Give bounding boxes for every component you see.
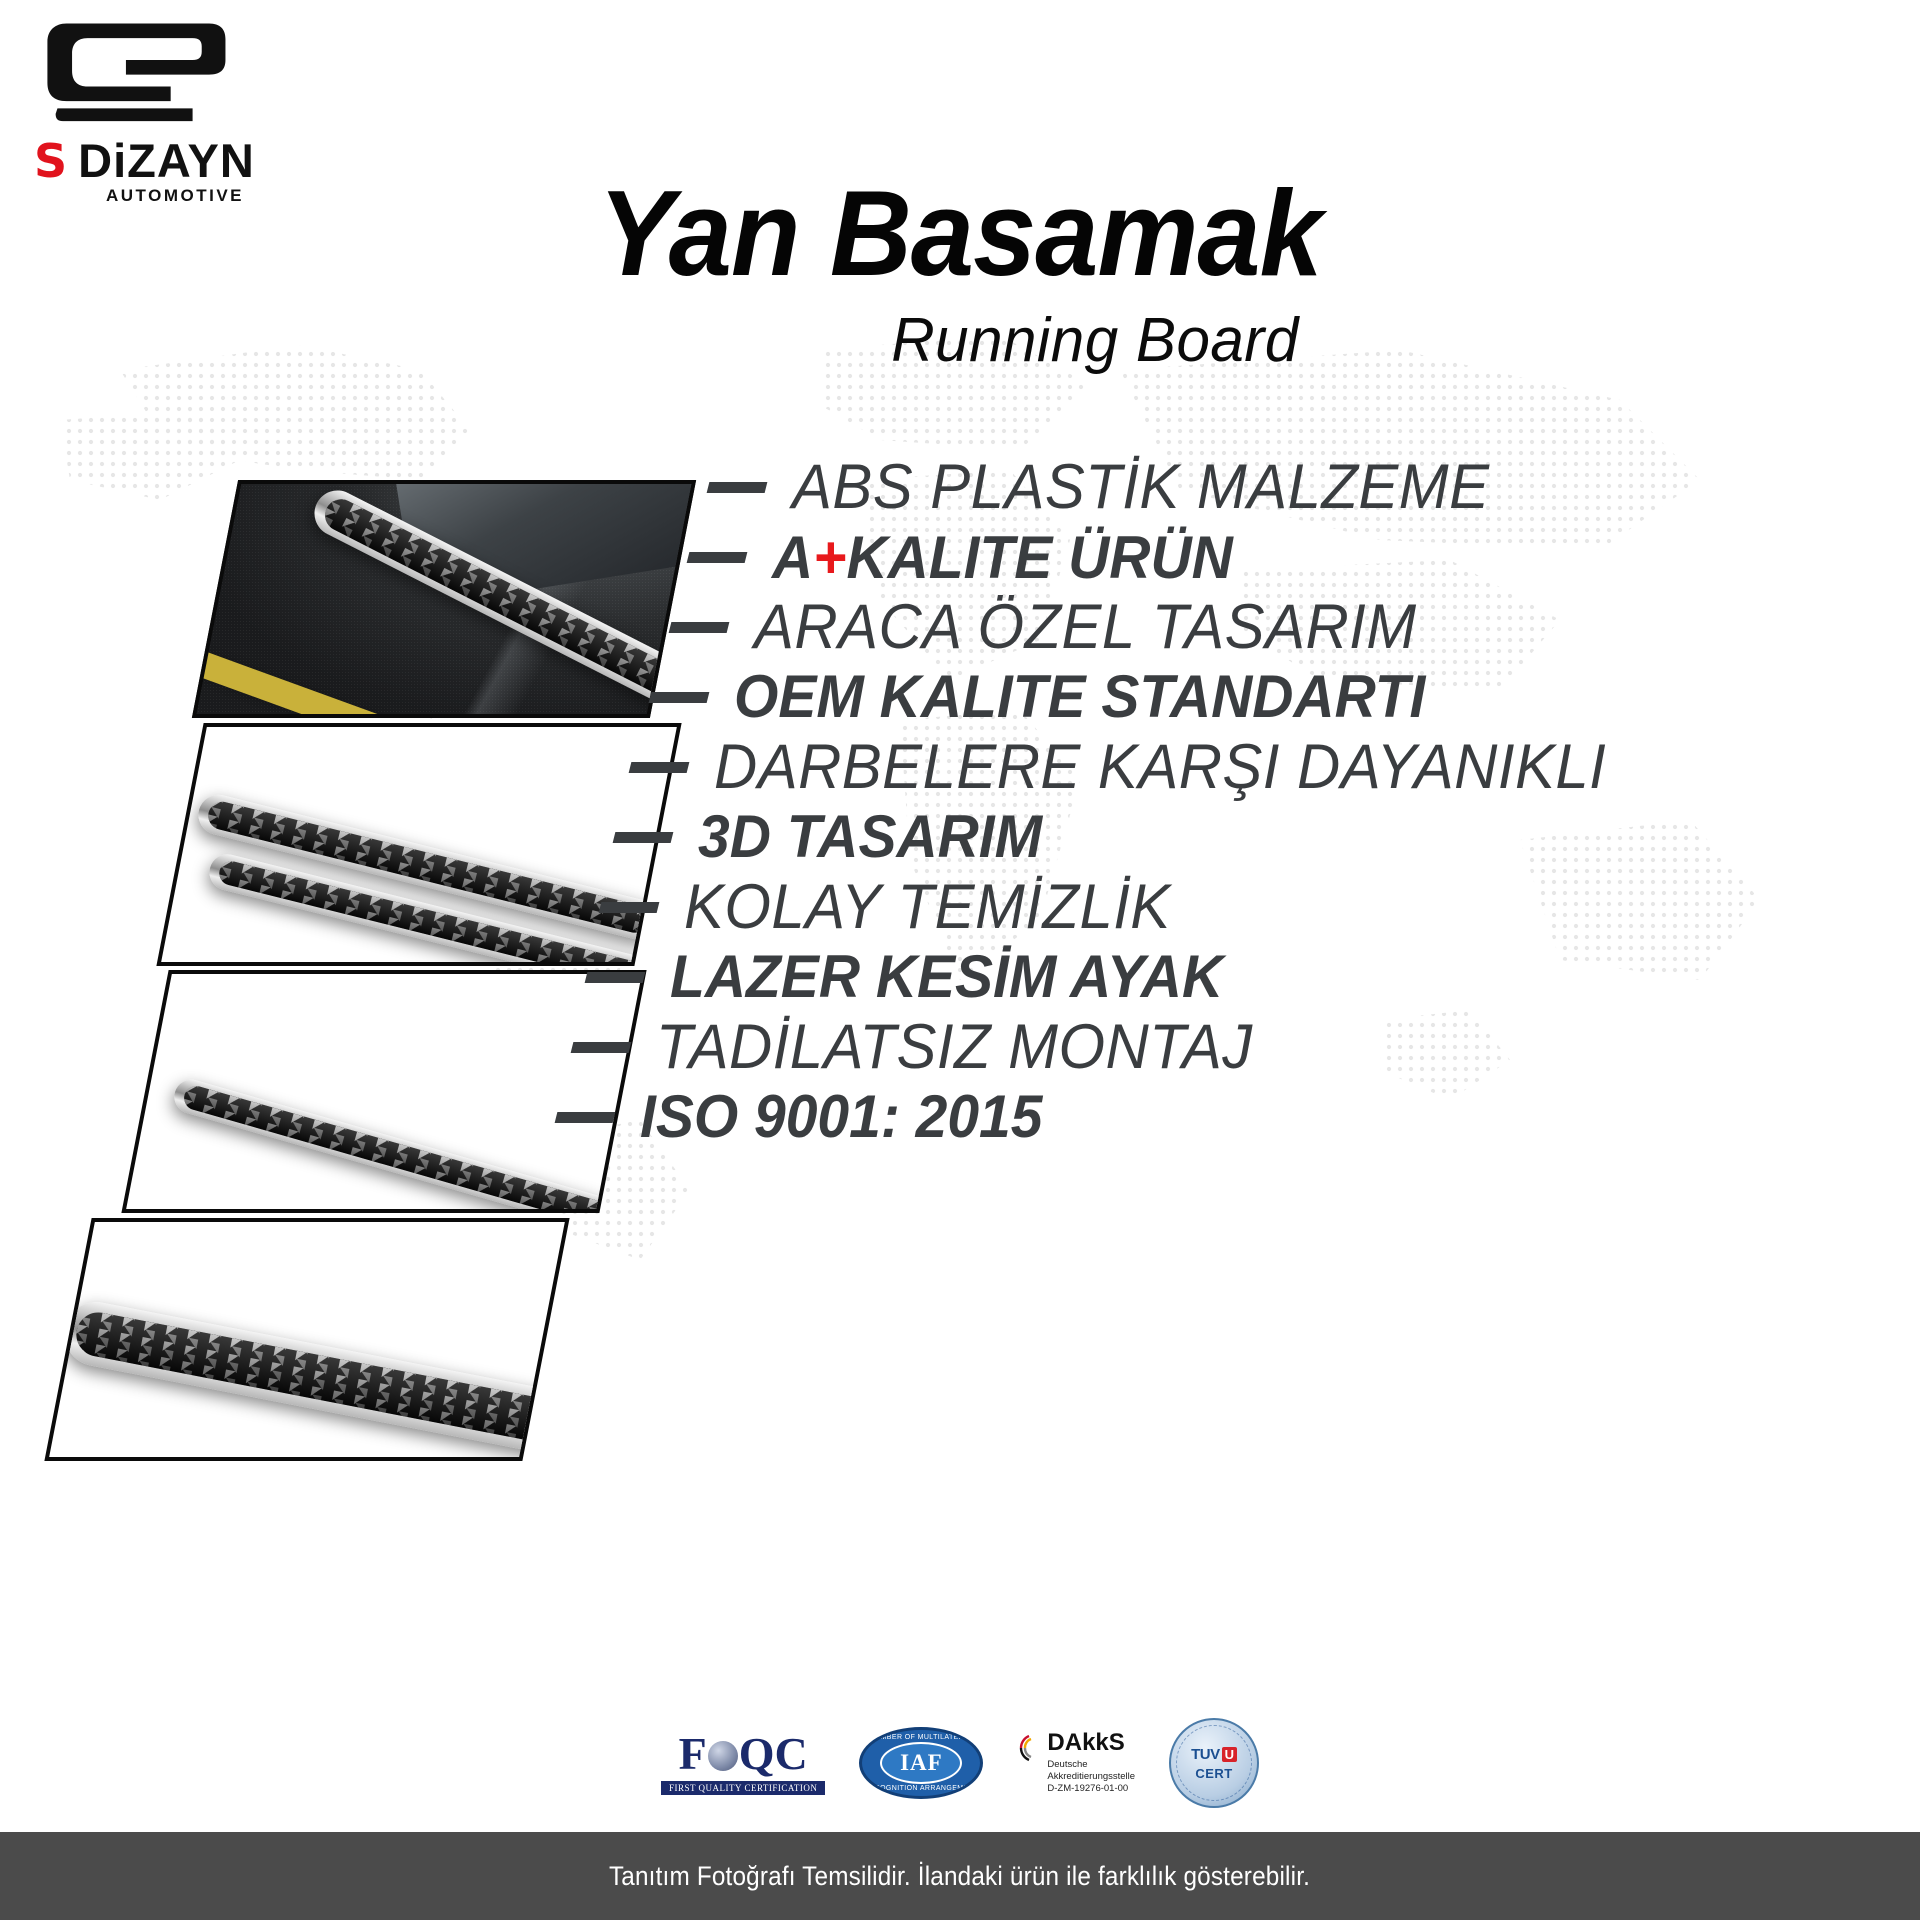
iaf-bottom-text: RECOGNITION ARRANGEMENT (862, 1785, 980, 1792)
bullet-dash-icon (687, 552, 748, 563)
bullet-dash-icon (571, 1042, 632, 1053)
disclaimer-text: Tanıtım Fotoğrafı Temsilidir. İlandaki ü… (609, 1861, 1310, 1892)
fqc-badge-icon: FQC FIRST QUALITY CERTIFICATION (661, 1731, 825, 1795)
certification-badges: FQC FIRST QUALITY CERTIFICATION MEMBER O… (0, 1718, 1920, 1808)
feature-label: A+KALITE ÜRÜN (772, 527, 1233, 589)
bullet-dash-icon (669, 622, 730, 633)
feature-list: ABS PLASTİK MALZEME A+KALITE ÜRÜN ARACA … (600, 455, 1920, 1155)
feature-label: LAZER KESİM AYAK (670, 946, 1223, 1008)
bullet-dash-icon (555, 1112, 616, 1123)
feature-item: ISO 9001: 2015 (556, 1086, 1920, 1148)
s-dizayn-logo-mark (28, 18, 233, 123)
bullet-dash-icon (613, 832, 674, 843)
fqc-letters-tail: QC (739, 1731, 808, 1777)
product-photo-close-up (44, 1218, 569, 1461)
feature-item: KOLAY TEMİZLİK (600, 875, 1920, 941)
feature-item: LAZER KESİM AYAK (586, 946, 1920, 1008)
feature-item: 3D TASARIM (614, 806, 1920, 868)
feature-label-suffix: KALITE ÜRÜN (846, 524, 1232, 591)
feature-item: TADİLATSIZ MONTAJ (572, 1015, 1920, 1081)
feature-label-prefix: A (772, 524, 813, 591)
feature-label: 3D TASARIM (698, 806, 1042, 868)
feature-label: ISO 9001: 2015 (640, 1086, 1042, 1148)
dakks-line2: Akkreditierungsstelle (1047, 1771, 1135, 1783)
bullet-dash-icon (649, 692, 710, 703)
feature-label: DARBELERE KARŞI DAYANIKLI (714, 735, 1606, 801)
iaf-top-text: MEMBER OF MULTILATERAL (862, 1734, 980, 1741)
feature-label: ARACA ÖZEL TASARIM (754, 595, 1417, 661)
page-title: Yan Basamak (67, 172, 1853, 294)
feature-label: TADİLATSIZ MONTAJ (656, 1015, 1253, 1081)
feature-label: OEM KALITE STANDARTI (734, 666, 1425, 728)
plus-highlight: + (813, 524, 846, 591)
feature-item: ARACA ÖZEL TASARIM (670, 595, 1920, 661)
brand-logo: S DiZAYN AUTOMOTIVE (28, 18, 308, 206)
logo-wordmark: DiZAYN (78, 137, 255, 184)
feature-item: A+KALITE ÜRÜN (688, 527, 1920, 589)
dakks-line1: Deutsche (1047, 1759, 1135, 1771)
bullet-dash-icon (629, 762, 690, 773)
iaf-letters: IAF (900, 1750, 943, 1776)
bullet-dash-icon (707, 482, 768, 493)
page-subtitle: Running Board (295, 310, 1896, 372)
disclaimer-bar: Tanıtım Fotoğrafı Temsilidir. İlandaki ü… (0, 1832, 1920, 1920)
feature-label: ABS PLASTİK MALZEME (792, 455, 1490, 521)
iaf-badge-icon: MEMBER OF MULTILATERAL IAF RECOGNITION A… (859, 1727, 983, 1799)
logo-tagline: AUTOMOTIVE (106, 186, 308, 206)
feature-item: DARBELERE KARŞI DAYANIKLI (630, 735, 1920, 801)
fqc-caption: FIRST QUALITY CERTIFICATION (661, 1781, 825, 1795)
feature-label: KOLAY TEMİZLİK (684, 875, 1171, 941)
logo-letter-s: S (34, 138, 66, 184)
dakks-line3: D-ZM-19276-01-00 (1047, 1783, 1135, 1795)
bullet-dash-icon (599, 902, 660, 913)
dakks-wordmark: DAkkS (1047, 1731, 1135, 1755)
feature-item: ABS PLASTİK MALZEME (708, 455, 1920, 521)
bullet-dash-icon (585, 972, 646, 983)
dakks-wave-icon (1017, 1731, 1043, 1765)
fqc-letters: F (679, 1731, 707, 1777)
dakks-badge-icon: DAkkS Deutsche Akkreditierungsstelle D-Z… (1017, 1731, 1135, 1795)
poster-canvas: S DiZAYN AUTOMOTIVE Yan Basamak Running … (0, 0, 1920, 1920)
feature-item: OEM KALITE STANDARTI (650, 666, 1920, 728)
tuv-cert-badge-icon: TUV U CERT (1169, 1718, 1259, 1808)
globe-icon (708, 1741, 738, 1771)
